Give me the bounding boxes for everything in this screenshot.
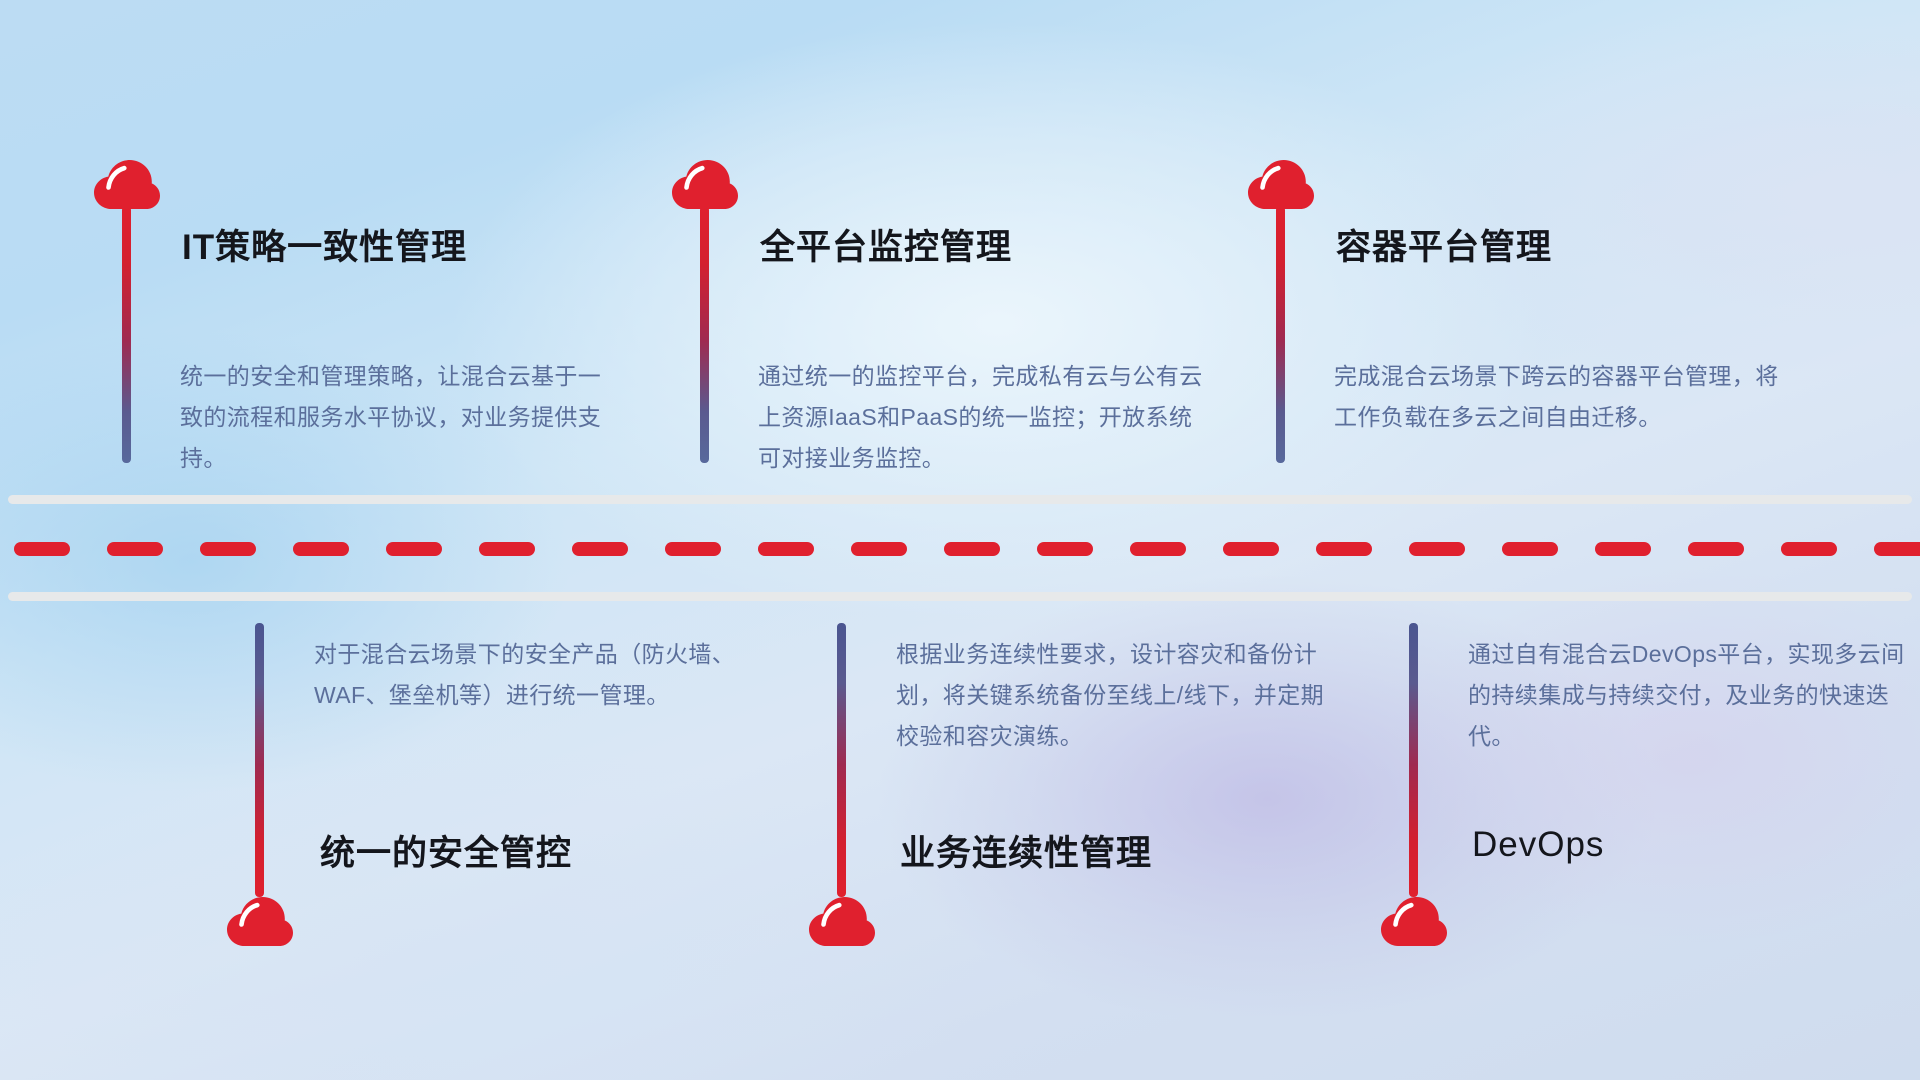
divider-dash	[1409, 542, 1465, 556]
bottom-body-2: 根据业务连续性要求，设计容灾和备份计划，将关键系统备份至线上/线下，并定期校验和…	[896, 634, 1336, 757]
divider-dash	[386, 542, 442, 556]
bottom-heading-1: 统一的安全管控	[320, 825, 572, 876]
cloud-pin-icon	[1248, 160, 1314, 210]
divider-dash	[1037, 542, 1093, 556]
divider-dash	[14, 542, 70, 556]
top-pin-stem-2	[700, 206, 709, 463]
bottom-body-3: 通过自有混合云DevOps平台，实现多云间的持续集成与持续交付，及业务的快速迭代…	[1468, 634, 1908, 757]
cloud-pin-icon	[809, 897, 875, 947]
divider-dash	[851, 542, 907, 556]
cloud-pin-icon	[94, 160, 160, 210]
center-divider	[0, 485, 1920, 605]
cloud-pin-icon	[1381, 897, 1447, 947]
cloud-pin-icon	[227, 897, 293, 947]
top-pin-marker-3	[1248, 160, 1314, 210]
bottom-heading-3: DevOps	[1472, 825, 1604, 865]
divider-dash	[665, 542, 721, 556]
divider-dashed-line	[0, 542, 1920, 556]
bottom-pin-stem-3	[1409, 623, 1418, 897]
top-body-1: 统一的安全和管理策略，让混合云基于一致的流程和服务水平协议，对业务提供支持。	[180, 356, 618, 479]
divider-dash	[944, 542, 1000, 556]
bottom-heading-2: 业务连续性管理	[900, 825, 1152, 876]
top-heading-2: 全平台监控管理	[760, 219, 1012, 270]
divider-dash	[293, 542, 349, 556]
divider-dash	[479, 542, 535, 556]
cloud-pin-icon	[672, 160, 738, 210]
divider-dash	[1130, 542, 1186, 556]
top-body-3: 完成混合云场景下跨云的容器平台管理，将工作负载在多云之间自由迁移。	[1334, 356, 1784, 438]
divider-dash	[1223, 542, 1279, 556]
divider-dash	[1595, 542, 1651, 556]
divider-dash	[758, 542, 814, 556]
divider-dash	[1781, 542, 1837, 556]
top-pin-stem-1	[122, 206, 131, 463]
divider-dash	[1502, 542, 1558, 556]
bottom-body-1: 对于混合云场景下的安全产品（防火墙、WAF、堡垒机等）进行统一管理。	[314, 634, 746, 716]
bottom-pin-marker-1	[227, 897, 293, 947]
divider-rail-top	[8, 495, 1912, 504]
bottom-pin-stem-2	[837, 623, 846, 897]
divider-dash	[1316, 542, 1372, 556]
divider-dash	[200, 542, 256, 556]
top-heading-1: IT策略一致性管理	[182, 219, 467, 270]
divider-dash	[1688, 542, 1744, 556]
divider-dash	[107, 542, 163, 556]
divider-dash	[1874, 542, 1920, 556]
bottom-pin-marker-3	[1381, 897, 1447, 947]
divider-dash	[572, 542, 628, 556]
top-body-2: 通过统一的监控平台，完成私有云与公有云上资源IaaS和PaaS的统一监控；开放系…	[758, 356, 1206, 479]
bottom-pin-marker-2	[809, 897, 875, 947]
top-pin-marker-1	[94, 160, 160, 210]
top-pin-stem-3	[1276, 206, 1285, 463]
divider-rail-bottom	[8, 592, 1912, 601]
bottom-pin-stem-1	[255, 623, 264, 897]
top-heading-3: 容器平台管理	[1336, 219, 1552, 270]
top-pin-marker-2	[672, 160, 738, 210]
infographic-canvas: IT策略一致性管理 统一的安全和管理策略，让混合云基于一致的流程和服务水平协议，…	[0, 0, 1920, 1080]
